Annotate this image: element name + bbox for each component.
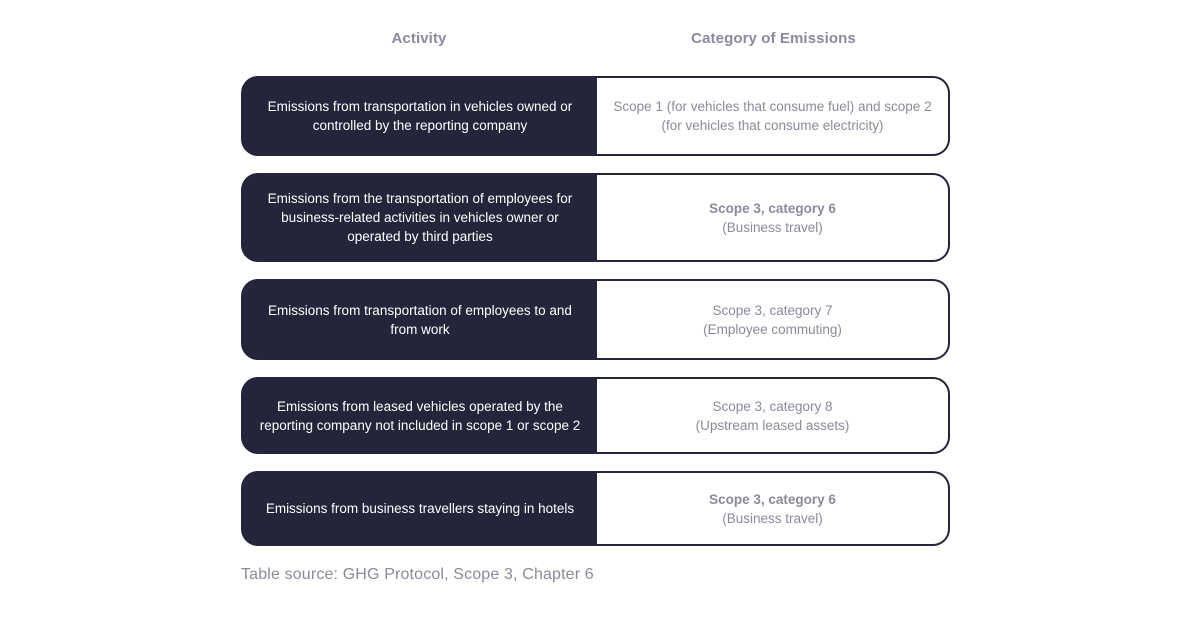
table-row: Emissions from leased vehicles operated … bbox=[241, 377, 950, 454]
category-secondary-text: (Business travel) bbox=[722, 218, 823, 237]
category-primary-text: Scope 3, category 6 bbox=[709, 490, 836, 509]
cell-activity: Emissions from business travellers stayi… bbox=[241, 471, 597, 546]
activity-text: Emissions from business travellers stayi… bbox=[266, 499, 574, 518]
cell-category: Scope 3, category 7 (Employee commuting) bbox=[597, 279, 950, 360]
cell-activity: Emissions from transportation in vehicle… bbox=[241, 76, 597, 156]
activity-text: Emissions from transportation in vehicle… bbox=[257, 97, 583, 135]
category-primary-text: Scope 3, category 7 bbox=[712, 301, 832, 320]
activity-text: Emissions from leased vehicles operated … bbox=[257, 397, 583, 435]
category-primary-text: Scope 3, category 8 bbox=[712, 397, 832, 416]
cell-activity: Emissions from transportation of employe… bbox=[241, 279, 597, 360]
category-secondary-text: (Upstream leased assets) bbox=[696, 416, 850, 435]
category-primary-text: Scope 1 (for vehicles that consume fuel)… bbox=[611, 97, 934, 135]
activity-text: Emissions from the transportation of emp… bbox=[257, 189, 583, 246]
category-primary-text: Scope 3, category 6 bbox=[709, 199, 836, 218]
table-row: Emissions from transportation in vehicle… bbox=[241, 76, 950, 156]
cell-activity: Emissions from the transportation of emp… bbox=[241, 173, 597, 262]
activity-text: Emissions from transportation of employe… bbox=[257, 301, 583, 339]
table-row: Emissions from business travellers stayi… bbox=[241, 471, 950, 546]
cell-category: Scope 3, category 6 (Business travel) bbox=[597, 173, 950, 262]
table-row: Emissions from transportation of employe… bbox=[241, 279, 950, 360]
table-header-row: Activity Category of Emissions bbox=[241, 0, 950, 76]
column-header-category: Category of Emissions bbox=[597, 30, 950, 47]
emissions-table: Activity Category of Emissions Emissions… bbox=[241, 0, 950, 584]
table-source-note: Table source: GHG Protocol, Scope 3, Cha… bbox=[241, 566, 950, 584]
category-secondary-text: (Employee commuting) bbox=[703, 320, 842, 339]
cell-category: Scope 3, category 6 (Business travel) bbox=[597, 471, 950, 546]
cell-category: Scope 3, category 8 (Upstream leased ass… bbox=[597, 377, 950, 454]
page-root: Activity Category of Emissions Emissions… bbox=[0, 0, 1193, 618]
cell-category: Scope 1 (for vehicles that consume fuel)… bbox=[597, 76, 950, 156]
category-secondary-text: (Business travel) bbox=[722, 509, 823, 528]
column-header-activity: Activity bbox=[241, 30, 597, 47]
table-row: Emissions from the transportation of emp… bbox=[241, 173, 950, 262]
cell-activity: Emissions from leased vehicles operated … bbox=[241, 377, 597, 454]
